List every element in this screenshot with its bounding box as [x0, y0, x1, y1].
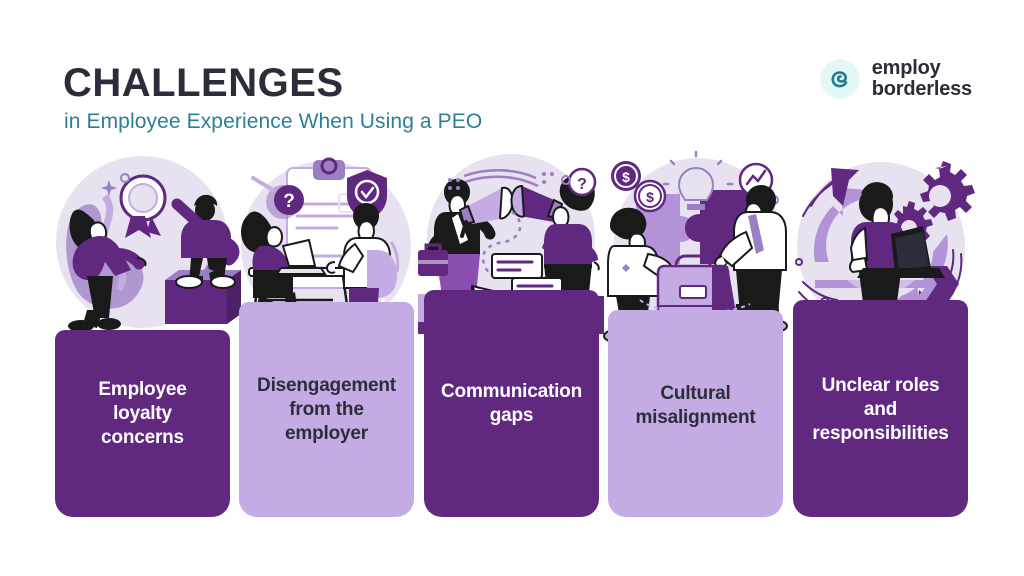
card-label-line-3: concerns	[61, 426, 224, 450]
challenge-card-2[interactable]: ?	[239, 150, 414, 517]
card-label-line-2: loyalty	[61, 402, 224, 426]
card-label: Unclear roles and responsibilities	[799, 374, 962, 446]
svg-text:$: $	[622, 169, 630, 185]
card-label: Communication gaps	[430, 380, 593, 428]
letter-e-icon	[820, 59, 860, 99]
challenge-cards-row: Employee loyalty concerns	[0, 150, 1024, 525]
card-panel: Employee loyalty concerns	[55, 330, 230, 517]
svg-text:?: ?	[283, 191, 295, 212]
brand-logo[interactable]: employ borderless	[820, 58, 972, 100]
card-label: Employee loyalty concerns	[61, 378, 224, 450]
header: CHALLENGES in Employee Experience When U…	[0, 0, 1024, 150]
svg-text:?: ?	[577, 176, 587, 193]
challenge-card-5[interactable]: Unclear roles and responsibilities	[793, 150, 968, 517]
card-label-line-2: from the	[245, 398, 408, 422]
logo-line-2: borderless	[872, 79, 972, 100]
card-label-line-3: employer	[245, 422, 408, 446]
challenge-card-4[interactable]: $ $	[608, 150, 783, 517]
award-ribbon-podium-scene	[55, 150, 230, 340]
infographic-canvas: CHALLENGES in Employee Experience When U…	[0, 0, 1024, 576]
challenge-card-1[interactable]: Employee loyalty concerns	[55, 150, 230, 517]
card-label-line-1: Unclear roles	[799, 374, 962, 398]
logo-line-1: employ	[872, 58, 972, 79]
card-panel: Cultural misalignment	[608, 310, 783, 517]
brand-wordmark: employ borderless	[872, 58, 972, 100]
card-panel: Communication gaps	[424, 290, 599, 517]
svg-text:$: $	[646, 189, 654, 205]
card-label: Disengagement from the employer	[245, 374, 408, 446]
page-subtitle: in Employee Experience When Using a PEO	[64, 110, 482, 133]
card-label-line-3: responsibilities	[799, 422, 962, 446]
card-label-line-2: gaps	[430, 404, 593, 428]
card-label-line-2: misalignment	[614, 406, 777, 430]
card-panel: Unclear roles and responsibilities	[793, 300, 968, 517]
card-panel: Disengagement from the employer	[239, 302, 414, 517]
card-label-line-2: and	[799, 398, 962, 422]
card-label-line-1: Employee	[61, 378, 224, 402]
card-label-line-1: Communication	[430, 380, 593, 404]
challenge-card-3[interactable]: ? Co	[424, 150, 599, 517]
card-label: Cultural misalignment	[614, 382, 777, 430]
card-label-line-1: Disengagement	[245, 374, 408, 398]
card-label-line-1: Cultural	[614, 382, 777, 406]
page-title: CHALLENGES	[63, 63, 344, 103]
